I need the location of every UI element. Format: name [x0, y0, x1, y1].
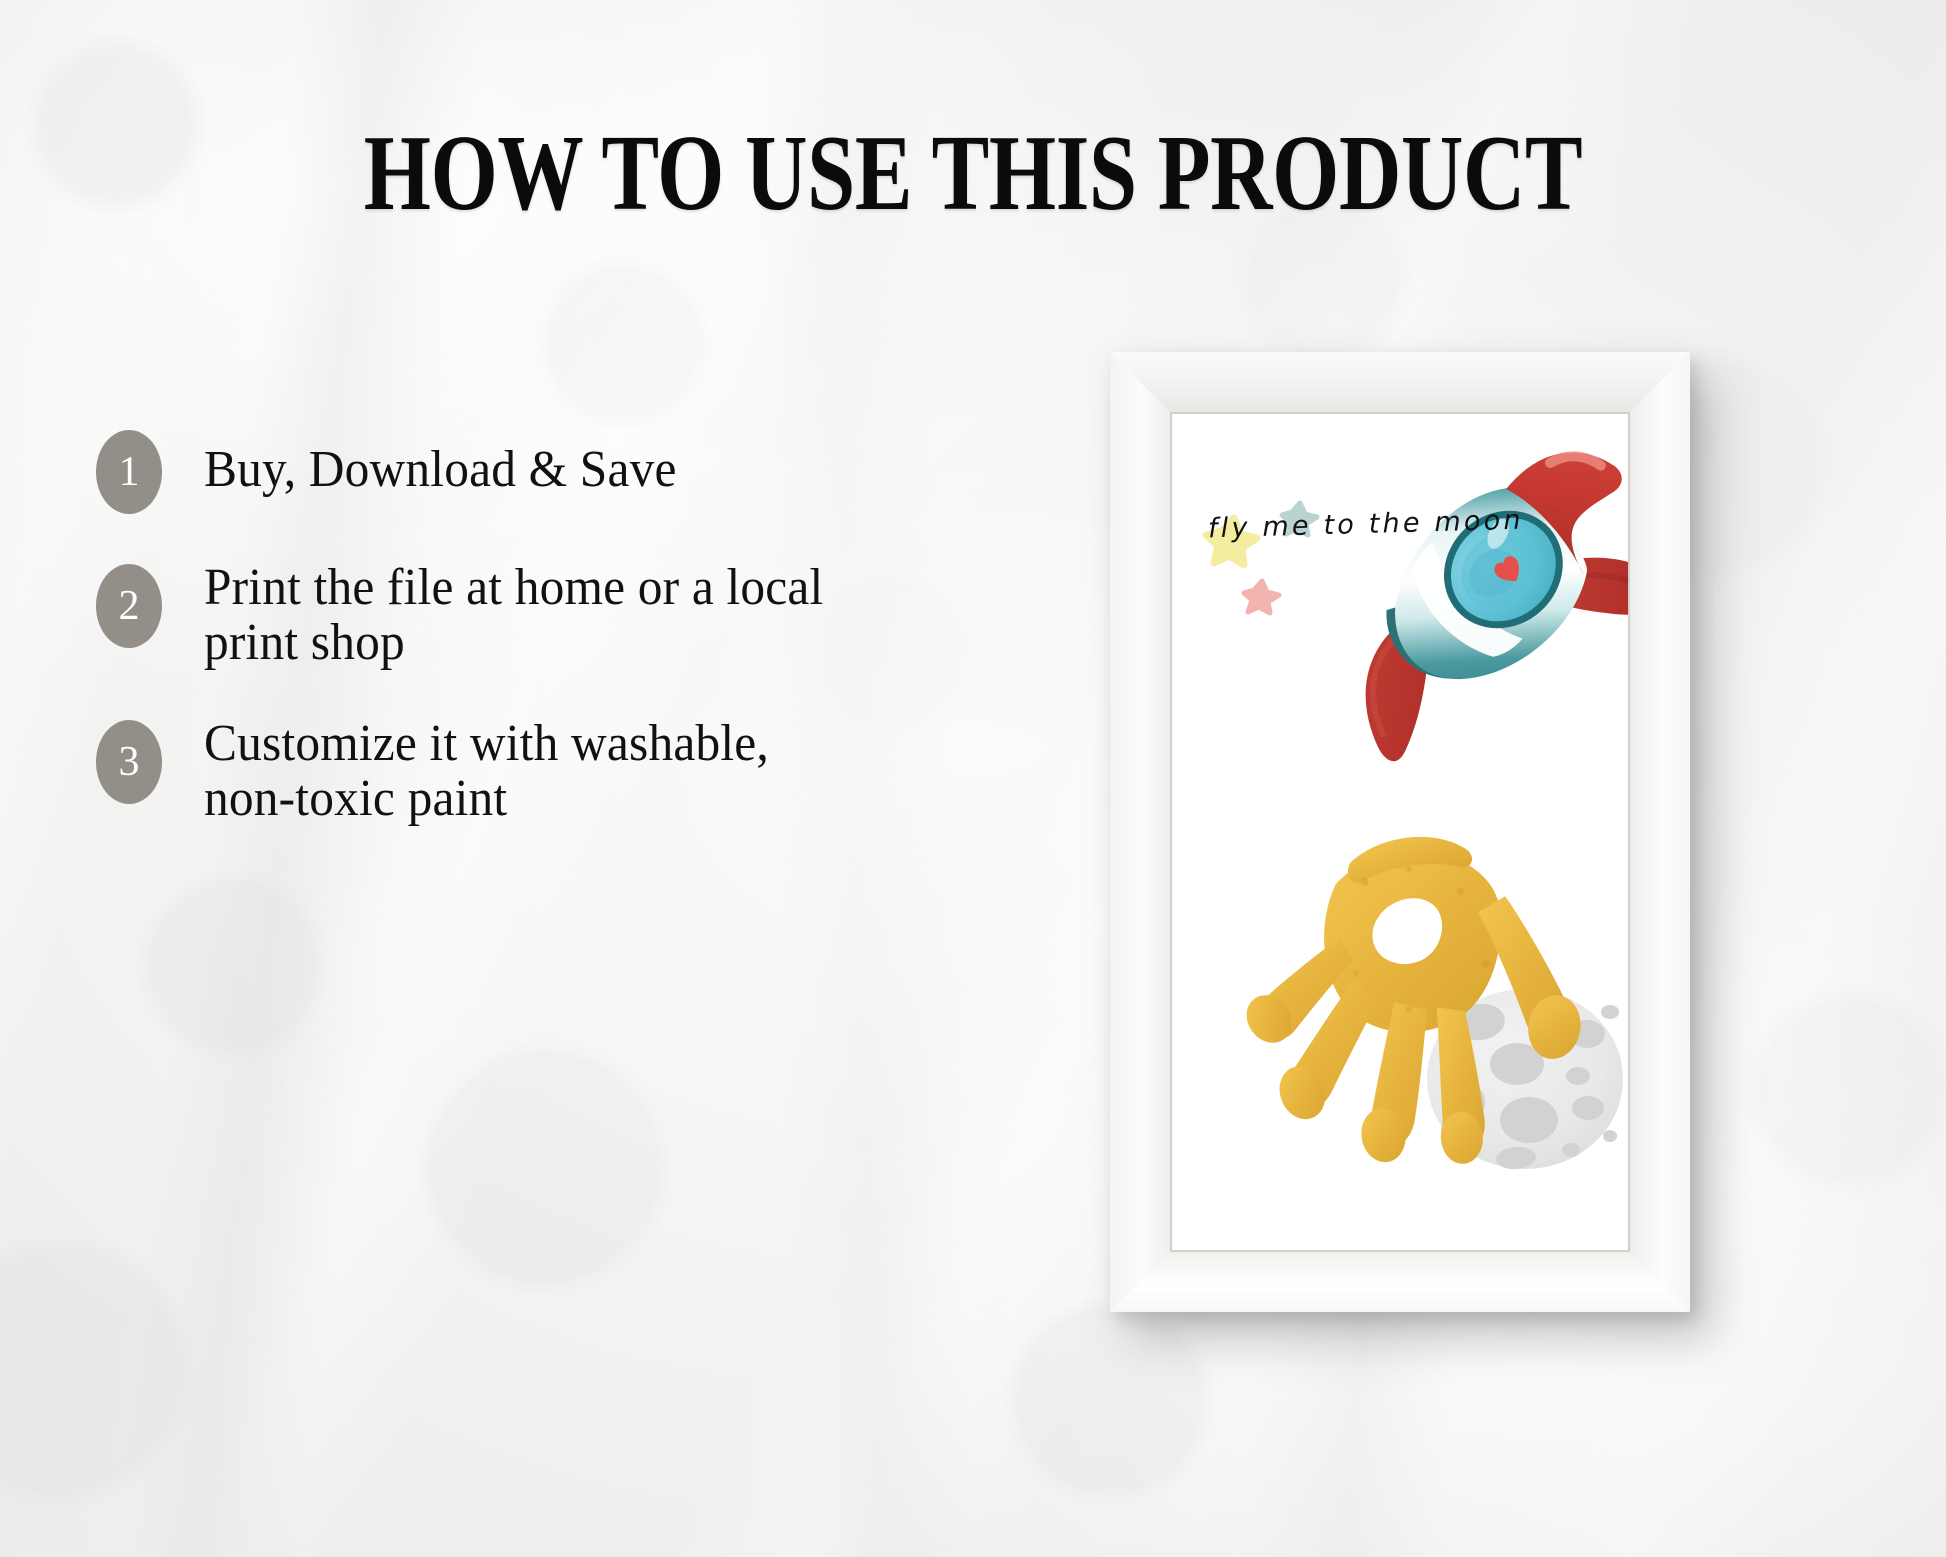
list-item: 3 Customize it with washable, non-toxic …: [96, 716, 896, 826]
step-number-badge: 3: [96, 720, 162, 804]
page-root: HOW TO USE THIS PRODUCT 1 Buy, Download …: [0, 0, 1946, 1557]
step-label: Customize it with washable, non-toxic pa…: [204, 716, 861, 826]
artwork-canvas: fly me to the moon: [1172, 414, 1628, 1250]
frame-moulding-top: [1110, 352, 1690, 414]
list-item: 2 Print the file at home or a local prin…: [96, 560, 896, 670]
frame-moulding-bottom: [1110, 1250, 1690, 1312]
step-label: Print the file at home or a local print …: [204, 560, 861, 670]
framed-artwork: fly me to the moon: [1110, 352, 1690, 1312]
step-number-badge: 1: [96, 430, 162, 514]
rocket-illustration: [1293, 414, 1628, 824]
artwork-mat: fly me to the moon: [1172, 414, 1628, 1250]
picture-frame: fly me to the moon: [1110, 352, 1690, 1312]
page-title: HOW TO USE THIS PRODUCT: [195, 112, 1752, 236]
step-number: 1: [119, 451, 140, 493]
step-number-badge: 2: [96, 564, 162, 648]
frame-moulding-left: [1110, 352, 1172, 1312]
step-number: 3: [119, 741, 140, 783]
step-label: Buy, Download & Save: [204, 430, 677, 497]
list-item: 1 Buy, Download & Save: [96, 430, 896, 514]
steps-list: 1 Buy, Download & Save 2 Print the file …: [96, 430, 896, 826]
step-number: 2: [119, 585, 140, 627]
star-pink-icon: [1244, 581, 1279, 613]
frame-moulding-right: [1628, 352, 1690, 1312]
